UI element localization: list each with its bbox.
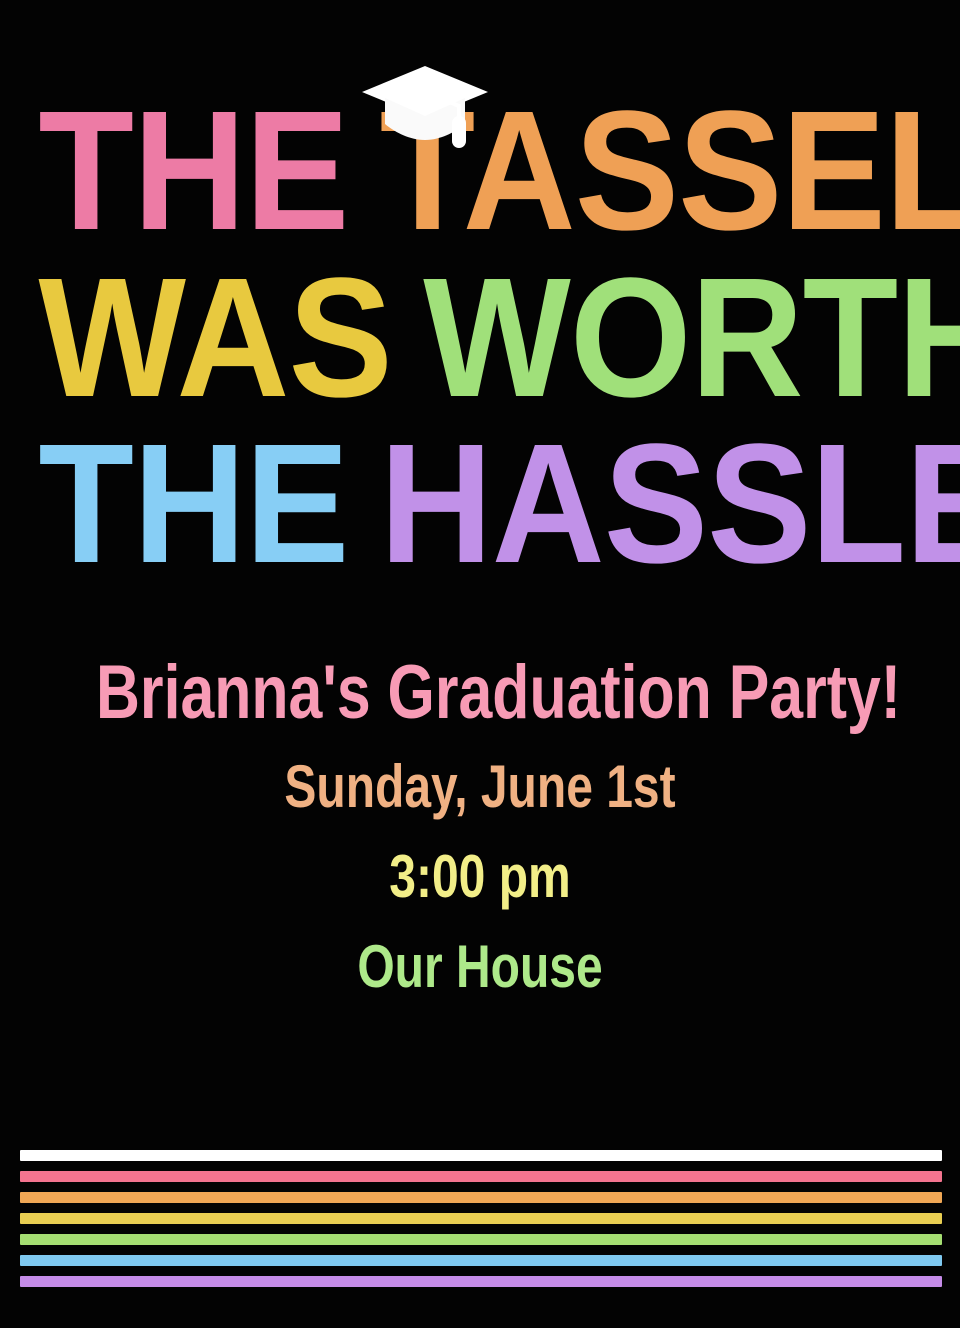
stripe-yellow [20, 1213, 942, 1224]
stripe-blue [20, 1255, 942, 1266]
event-time-line: 3:00 pm [96, 847, 864, 907]
headline-word-tassel: TASSEL [380, 88, 960, 255]
headline-line-1: THETASSEL [38, 88, 921, 255]
event-location-line: Our House [96, 937, 864, 997]
party-name-line: Brianna's Graduation Party! [96, 655, 864, 731]
stripe-pink [20, 1171, 942, 1182]
headline-line-3: THEHASSLE [38, 421, 921, 588]
stripe-green [20, 1234, 942, 1245]
event-details-block: Brianna's Graduation Party! Sunday, June… [0, 655, 960, 997]
headline-word-the-1: THE [38, 88, 348, 255]
headline-word-the-2: THE [38, 421, 348, 588]
headline-block: THETASSEL WASWORTH THEHASSLE [0, 88, 960, 588]
invitation-poster: THETASSEL WASWORTH THEHASSLE Brianna's G… [0, 0, 960, 1328]
stripe-white [20, 1150, 942, 1161]
headline-word-worth: WORTH [423, 255, 960, 422]
headline-word-was: WAS [38, 255, 391, 422]
stripe-orange [20, 1192, 942, 1203]
stripe-purple [20, 1276, 942, 1287]
event-date-line: Sunday, June 1st [96, 757, 864, 817]
rainbow-stripe-band [20, 1150, 942, 1305]
headline-line-2: WASWORTH [38, 255, 921, 422]
headline-word-hassle: HASSLE [380, 421, 960, 588]
